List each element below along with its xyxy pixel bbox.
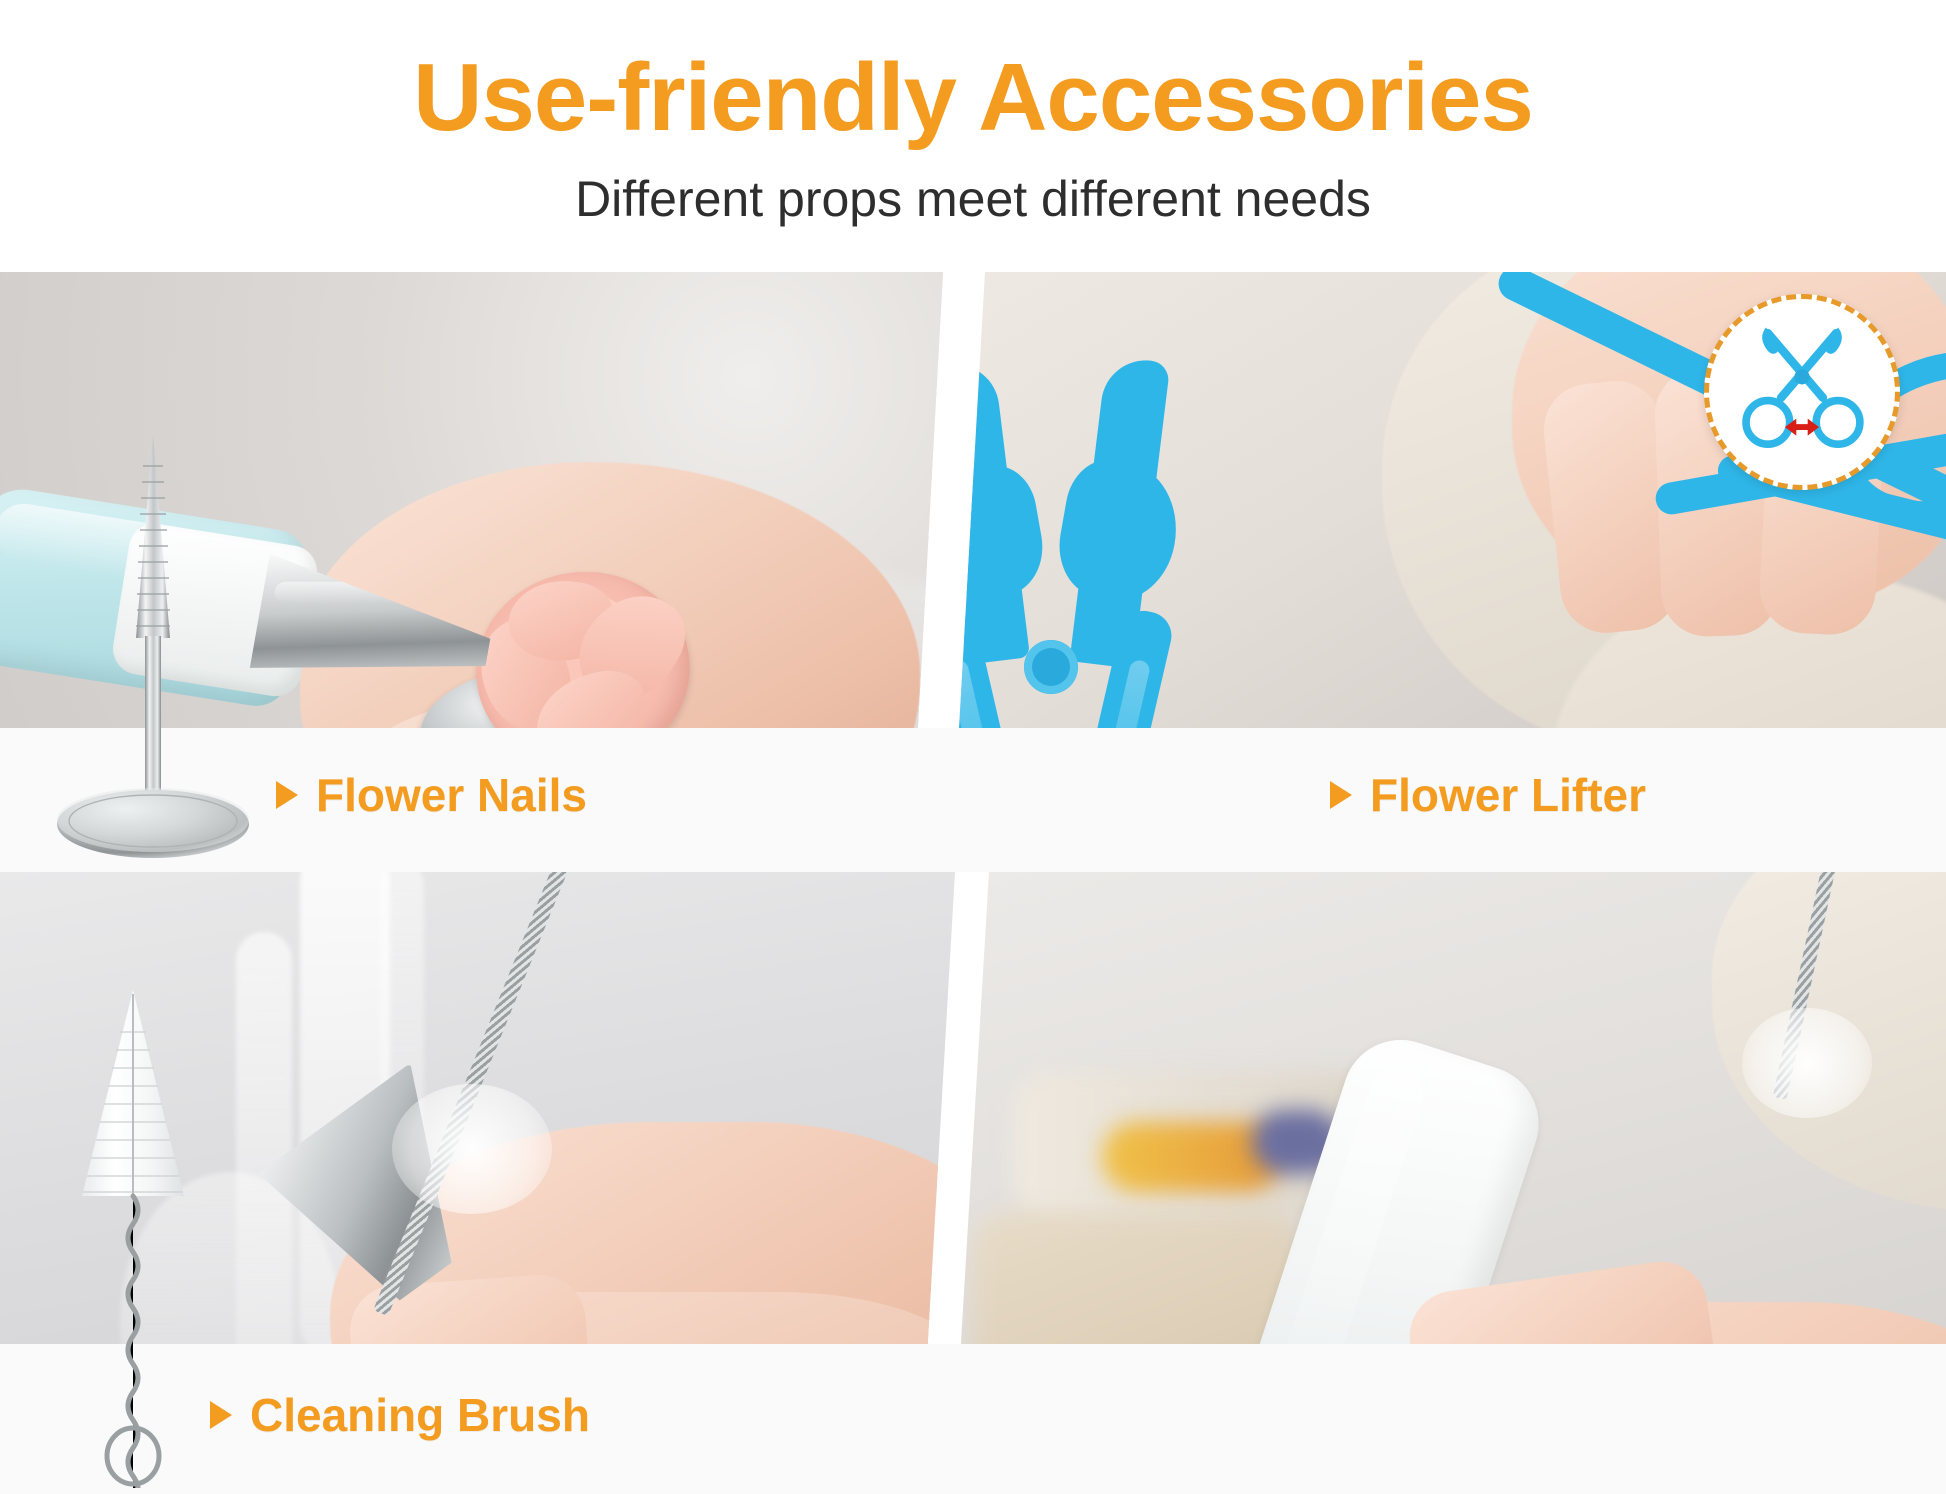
lifter-blade-left-flare: [952, 460, 1050, 607]
triangle-right-icon: [1330, 781, 1352, 809]
product-cleaning-brush: [58, 988, 208, 1488]
triangle-right-icon: [276, 781, 298, 809]
header: Use-friendly Accessories Different props…: [0, 0, 1946, 262]
triangle-right-icon: [210, 1401, 232, 1429]
label-flower-nails: Flower Nails: [276, 768, 587, 822]
product-flower-nail: [48, 426, 258, 866]
lifter-blade-right-flare: [1051, 453, 1187, 609]
label-text: Flower Nails: [316, 768, 587, 822]
label-text: Flower Lifter: [1370, 768, 1646, 822]
brush-bristle-tuft: [392, 1084, 552, 1214]
page-title: Use-friendly Accessories: [0, 48, 1946, 148]
label-cleaning-brush: Cleaning Brush: [210, 1388, 590, 1442]
feature-badge: [1704, 294, 1900, 490]
flower-lifter-scissors-icon: [1709, 299, 1895, 485]
label-text: Cleaning Brush: [250, 1388, 590, 1442]
brush-bristle-tuft: [1742, 1008, 1872, 1118]
product-infographic: Use-friendly Accessories Different props…: [0, 0, 1946, 1494]
page-subtitle: Different props meet different needs: [0, 172, 1946, 227]
label-band-top: Flower Nails Flower Lifter: [0, 728, 1946, 872]
label-band-bottom: Cleaning Brush: [0, 1344, 1946, 1494]
lifter-pivot: [1024, 640, 1078, 694]
label-flower-lifter: Flower Lifter: [1330, 768, 1646, 822]
